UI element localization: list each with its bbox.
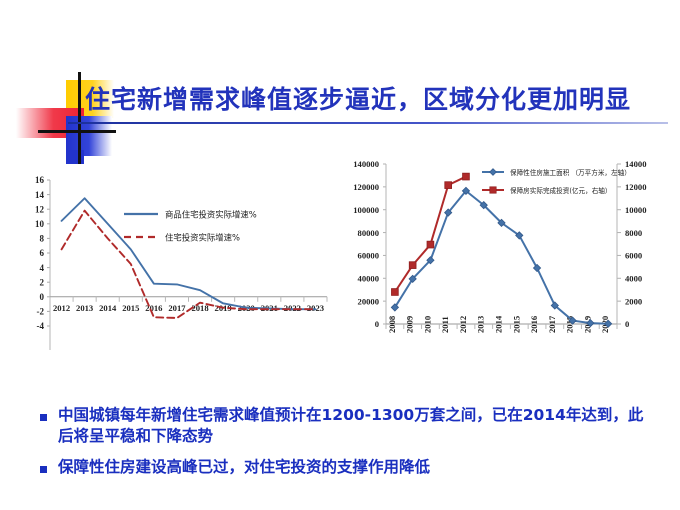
x-axis-tick-label: 2017	[168, 303, 186, 313]
legend-marker-1	[490, 187, 496, 193]
left-y-axis-tick-label: 60000	[358, 251, 379, 261]
data-point-marker	[427, 241, 434, 248]
y-axis-tick-label: 8	[40, 234, 45, 244]
list-item: 中国城镇每年新增住宅需求峰值预计在1200-1300万套之间，已在2014年达到…	[40, 405, 650, 448]
y-axis-tick-label: -2	[37, 307, 45, 317]
left-y-axis-tick-label: 80000	[358, 228, 379, 238]
data-point-marker	[391, 289, 398, 296]
right-y-axis-tick-label: 12000	[625, 182, 646, 192]
y-axis-tick-label: 16	[35, 175, 45, 185]
y-axis-tick-label: 4	[40, 263, 45, 273]
x-axis-tick-label: 2011	[440, 316, 450, 333]
x-axis-tick-label: 2015	[122, 303, 139, 313]
slide-title-block: 住宅新增需求峰值逐步逼近，区域分化更加明显	[0, 64, 680, 144]
right-y-axis-tick-label: 2000	[625, 296, 642, 306]
legend-label-1: 住宅投资实际增速%	[165, 232, 240, 242]
left-y-axis-tick-label: 20000	[358, 296, 379, 306]
data-point-marker	[409, 262, 416, 269]
data-point-marker	[533, 264, 540, 271]
x-axis-tick-label: 2023	[307, 303, 324, 313]
data-point-marker	[463, 173, 470, 180]
x-axis-tick-label: 2022	[284, 303, 301, 313]
y-axis-tick-label: 6	[40, 248, 45, 258]
right-chart-svg: 0200004000060000800001000001200001400000…	[334, 150, 674, 382]
right-y-axis-tick-label: 14000	[625, 159, 646, 169]
x-axis-tick-label: 2014	[99, 303, 117, 313]
left-y-axis-tick-label: 0	[375, 319, 379, 329]
x-axis-tick-label: 2016	[529, 315, 539, 333]
chart-affordable-housing: 0200004000060000800001000001200001400000…	[334, 150, 674, 382]
list-item: 保障性住房建设高峰已过，对住宅投资的支撑作用降低	[40, 457, 650, 478]
data-point-marker	[445, 182, 452, 189]
legend-label-0: 商品住宅投资实际增速%	[165, 209, 257, 219]
legend-label-1: 保障房实际完成投资(亿元，右轴）	[510, 186, 611, 195]
x-axis-tick-label: 2013	[476, 316, 486, 333]
chart-residential-investment-growth: -4-2024681012141620122013201420152016201…	[14, 168, 332, 380]
deco-cross-vertical	[78, 72, 81, 164]
bullet-text: 中国城镇每年新增住宅需求峰值预计在1200-1300万套之间，已在2014年达到…	[58, 405, 650, 448]
x-axis-tick-label: 2014	[494, 315, 504, 333]
y-axis-tick-label: 0	[40, 292, 45, 302]
bullet-list: 中国城镇每年新增住宅需求峰值预计在1200-1300万套之间，已在2014年达到…	[40, 405, 650, 487]
left-y-axis-tick-label: 140000	[353, 159, 379, 169]
right-y-axis-tick-label: 8000	[625, 228, 642, 238]
left-chart-svg: -4-2024681012141620122013201420152016201…	[14, 168, 332, 380]
right-y-axis-tick-label: 10000	[625, 205, 646, 215]
bullet-text: 保障性住房建设高峰已过，对住宅投资的支撑作用降低	[58, 457, 430, 478]
x-axis-tick-label: 2009	[405, 316, 415, 333]
y-axis-tick-label: 14	[35, 190, 45, 200]
x-axis-tick-label: 2010	[422, 316, 432, 333]
left-y-axis-tick-label: 100000	[353, 205, 379, 215]
slide-root: 住宅新增需求峰值逐步逼近，区域分化更加明显 -4-202468101214162…	[0, 0, 680, 510]
legend-marker-0	[490, 169, 497, 176]
legend-label-0: 保障性住房施工面积 （万平方米，左轴）	[510, 168, 631, 177]
x-axis-tick-label: 2012	[458, 316, 468, 333]
x-axis-tick-label: 2008	[387, 315, 397, 333]
x-axis-tick-label: 2012	[53, 303, 70, 313]
right-y-axis-tick-label: 6000	[625, 251, 642, 261]
x-axis-tick-label: 2017	[547, 315, 557, 333]
y-axis-tick-label: 12	[35, 204, 45, 214]
y-axis-tick-label: -4	[37, 321, 45, 331]
page-title: 住宅新增需求峰值逐步逼近，区域分化更加明显	[85, 80, 665, 116]
left-y-axis-tick-label: 40000	[358, 273, 379, 283]
x-axis-tick-label: 2015	[511, 316, 521, 333]
series-line-0	[395, 191, 608, 324]
right-y-axis-tick-label: 0	[625, 319, 629, 329]
x-axis-tick-label: 2013	[76, 303, 93, 313]
left-y-axis-tick-label: 120000	[353, 182, 379, 192]
y-axis-tick-label: 10	[35, 219, 45, 229]
title-underline	[68, 122, 668, 124]
deco-cross-horizontal	[38, 130, 116, 133]
bullet-square-icon	[40, 414, 47, 421]
y-axis-tick-label: 2	[40, 277, 45, 287]
bullet-square-icon	[40, 466, 47, 473]
right-y-axis-tick-label: 4000	[625, 273, 642, 283]
series-line-1	[395, 177, 466, 292]
deco-square-blue-small	[66, 150, 84, 164]
